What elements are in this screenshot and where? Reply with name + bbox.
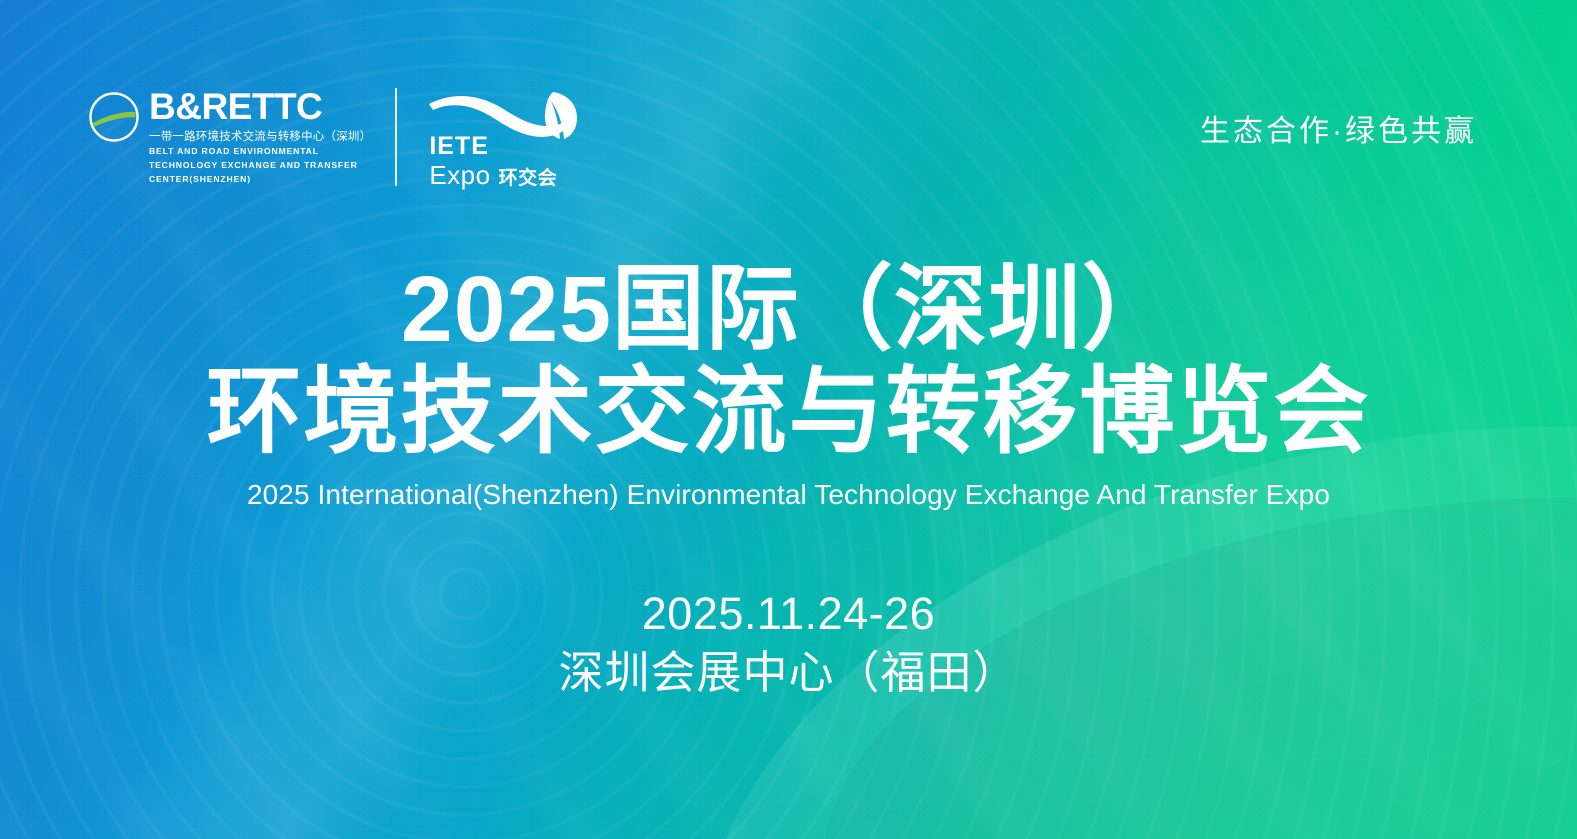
event-date: 2025.11.24-26 — [0, 587, 1577, 642]
logo-lockup: B&RETTC 一带一路环境技术交流与转移中心（深圳） BELT AND ROA… — [88, 88, 593, 186]
brettc-wordmark: B&RETTC — [149, 88, 371, 125]
globe-circle-icon — [88, 91, 140, 148]
brettc-english-line-3: CENTER(SHENZHEN) — [149, 174, 371, 186]
brettc-logo[interactable]: B&RETTC 一带一路环境技术交流与转移中心（深圳） BELT AND ROA… — [88, 88, 397, 186]
title-line-2: 环境技术交流与转移博览会 — [0, 363, 1577, 463]
brettc-chinese-name: 一带一路环境技术交流与转移中心（深圳） — [149, 130, 371, 144]
slogan-text: 生态合作·绿色共赢 — [1200, 106, 1477, 150]
title-line-1: 2025国际（深圳） — [0, 262, 1577, 357]
iete-acronym: IETE — [429, 134, 557, 159]
iete-expo-logo[interactable]: IETE Expo 环交会 — [425, 88, 593, 184]
event-venue: 深圳会展中心（福田） — [0, 646, 1577, 701]
iete-chinese-short: 环交会 — [499, 169, 558, 188]
subtitle-english: 2025 International(Shenzhen) Environment… — [0, 479, 1577, 511]
brettc-english-line-2: TECHNOLOGY EXCHANGE AND TRANSFER — [149, 160, 371, 172]
event-banner: B&RETTC 一带一路环境技术交流与转移中心（深圳） BELT AND ROA… — [0, 0, 1577, 839]
event-meta: 2025.11.24-26 深圳会展中心（福田） — [0, 587, 1577, 701]
iete-expo-word: Expo — [429, 162, 490, 188]
main-content: 2025国际（深圳） 环境技术交流与转移博览会 2025 Internation… — [0, 262, 1577, 700]
brettc-english-line-1: BELT AND ROAD ENVIRONMENTAL — [149, 146, 371, 158]
